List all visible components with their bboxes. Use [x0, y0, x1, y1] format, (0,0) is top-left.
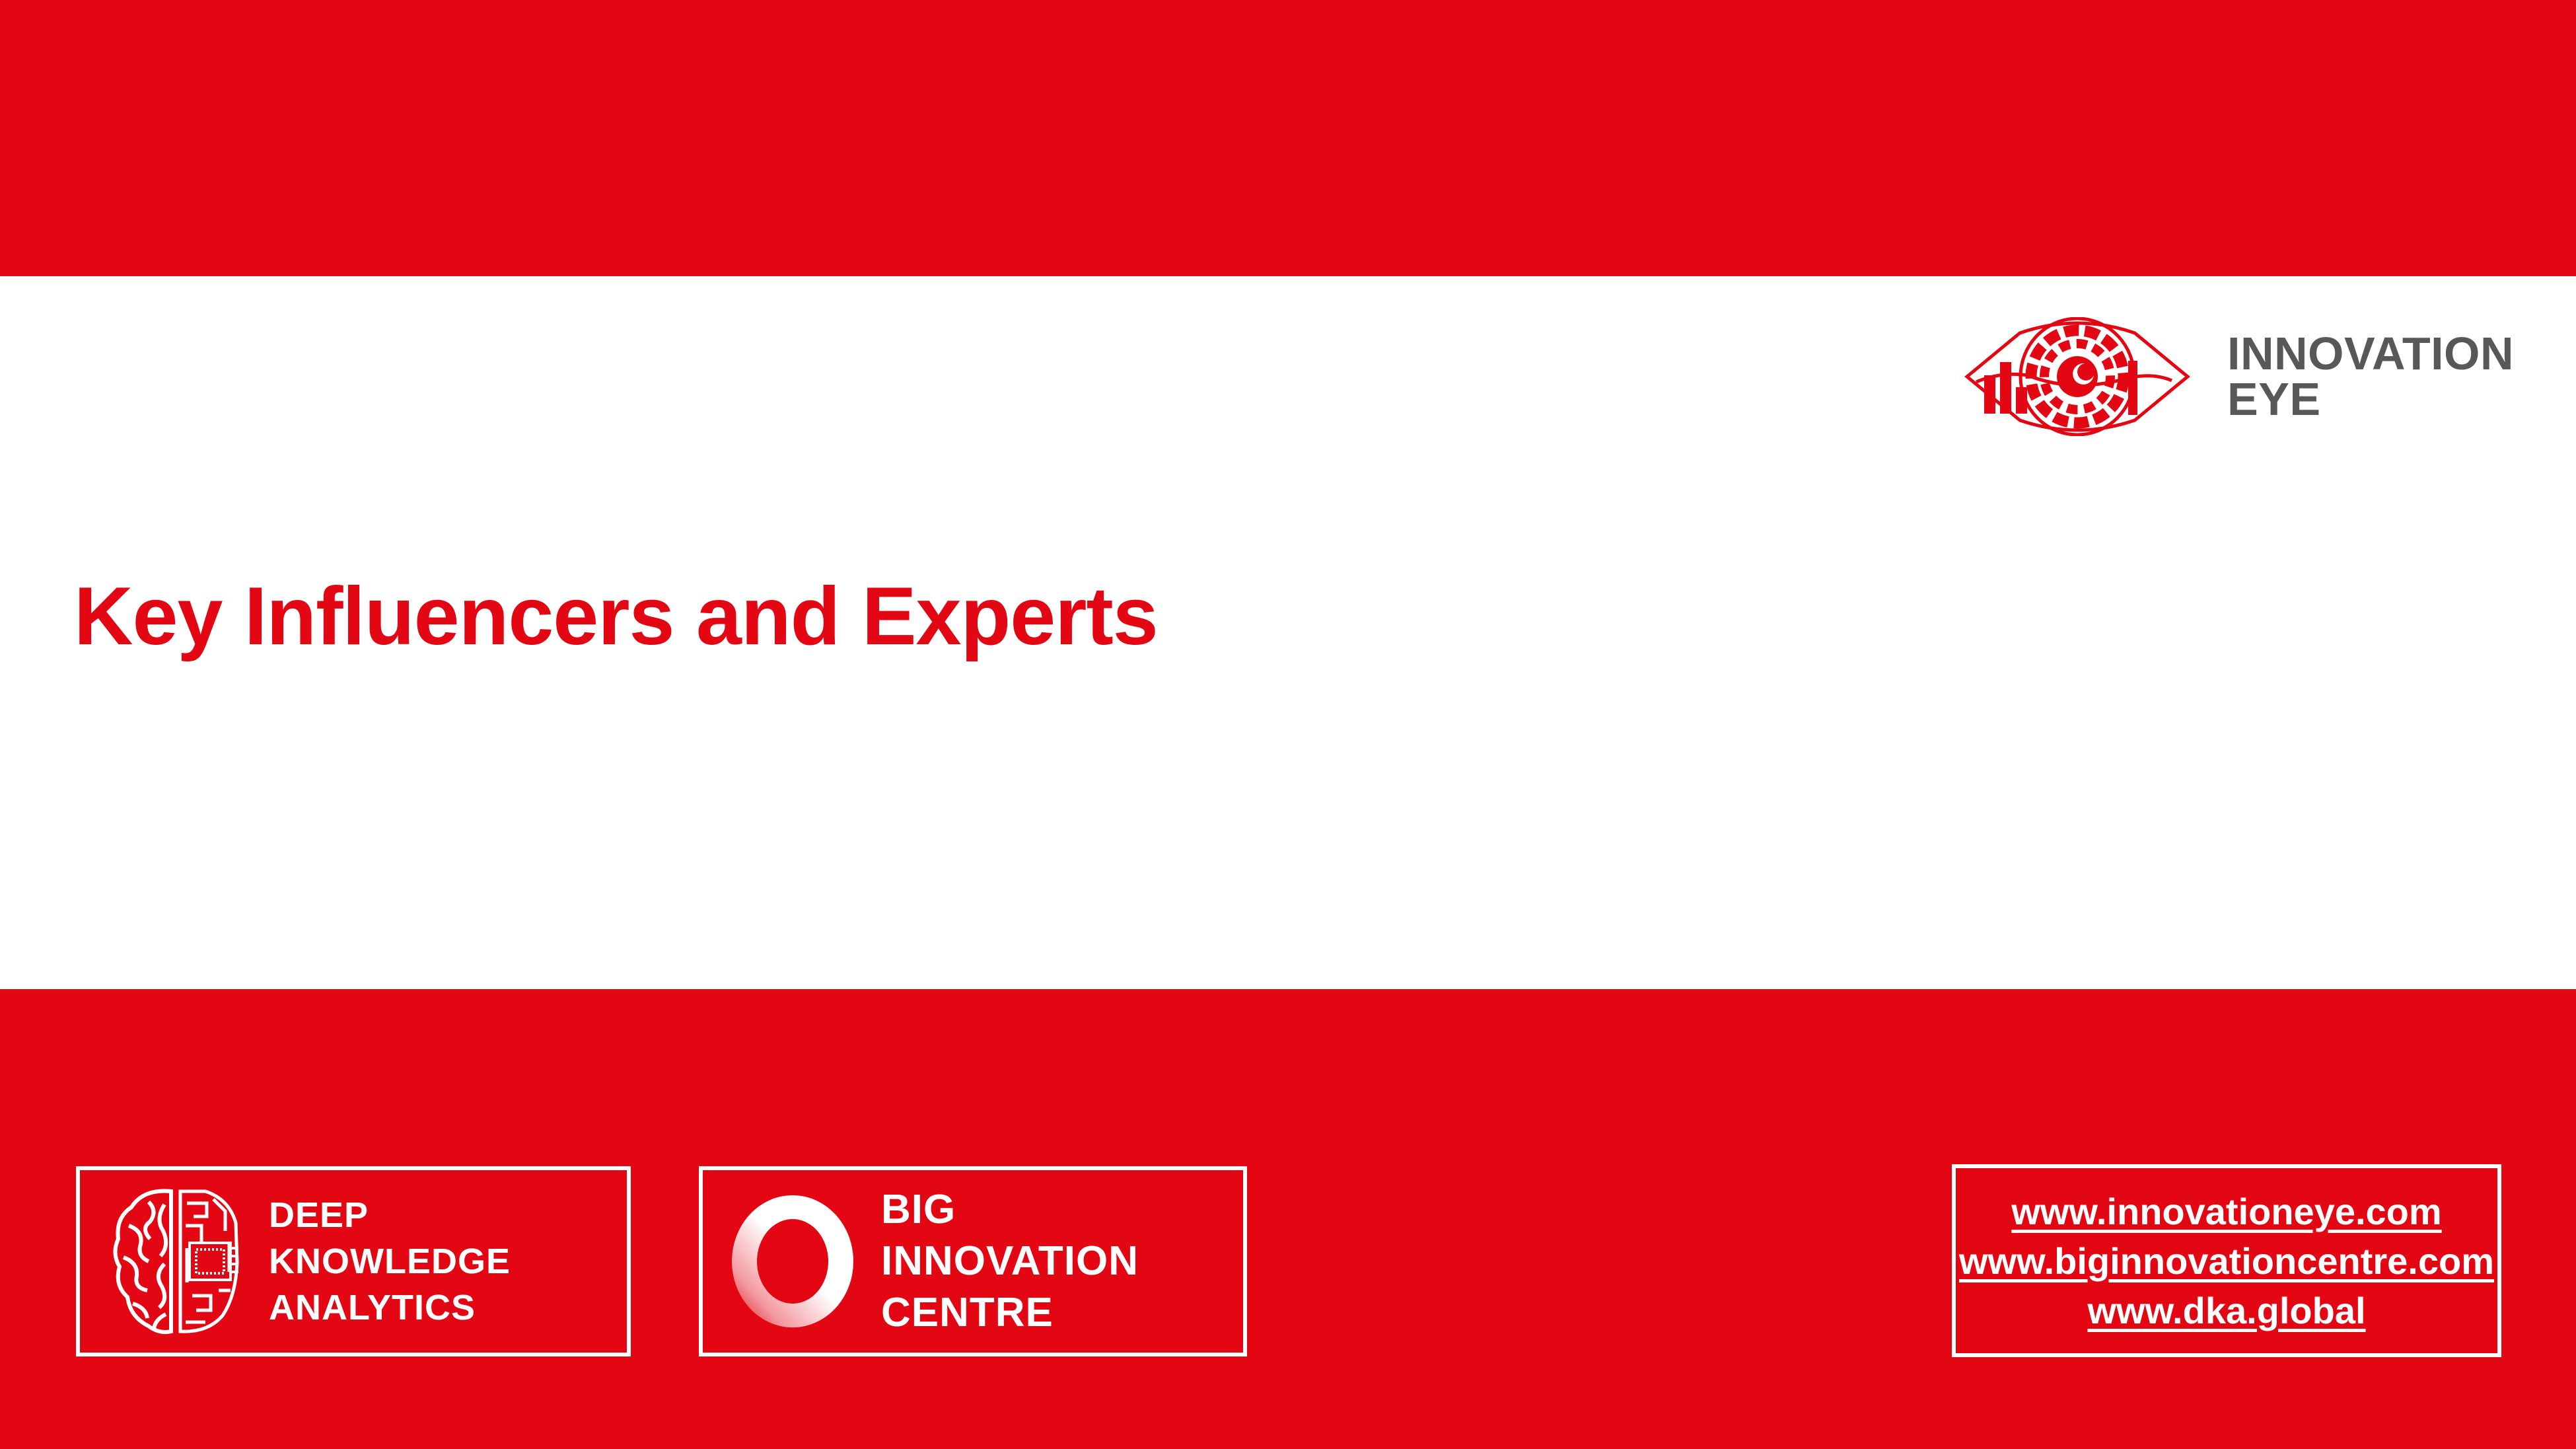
innovation-eye-logo: INNOVATION EYE	[1962, 311, 2530, 443]
link-innovationeye[interactable]: www.innovationeye.com	[2011, 1190, 2441, 1233]
website-links-box: www.innovationeye.com www.biginnovationc…	[1952, 1164, 2501, 1357]
link-dka-global[interactable]: www.dka.global	[2087, 1289, 2365, 1332]
innovation-eye-wordmark: INNOVATION EYE	[2227, 331, 2514, 422]
page-title: Key Influencers and Experts	[74, 570, 1158, 663]
link-biginnovationcentre[interactable]: www.biginnovationcentre.com	[1959, 1240, 2494, 1282]
innovation-eye-icon	[1962, 317, 2193, 436]
brain-circuit-icon	[106, 1185, 245, 1338]
partner-line-3: ANALYTICS	[269, 1290, 511, 1325]
ring-o-icon	[724, 1191, 861, 1332]
partner-line-3: CENTRE	[881, 1292, 1139, 1333]
partner-line-2: INNOVATION	[881, 1241, 1139, 1282]
partner-line-1: DEEP	[269, 1197, 511, 1233]
logo-wordmark-line-2: EYE	[2227, 377, 2514, 422]
logo-wordmark-line-1: INNOVATION	[2227, 331, 2514, 377]
partner-line-1: BIG	[881, 1189, 1139, 1230]
partner-name-big-innovation-centre: BIG INNOVATION CENTRE	[881, 1189, 1139, 1333]
partner-logo-big-innovation-centre: BIG INNOVATION CENTRE	[699, 1166, 1247, 1356]
partner-logo-deep-knowledge-analytics: DEEP KNOWLEDGE ANALYTICS	[76, 1166, 631, 1356]
top-red-band	[0, 0, 2576, 276]
presentation-slide: INNOVATION EYE Key Influencers and Exper…	[0, 0, 2576, 1449]
partner-name-deep-knowledge-analytics: DEEP KNOWLEDGE ANALYTICS	[269, 1197, 511, 1325]
partner-line-2: KNOWLEDGE	[269, 1244, 511, 1279]
